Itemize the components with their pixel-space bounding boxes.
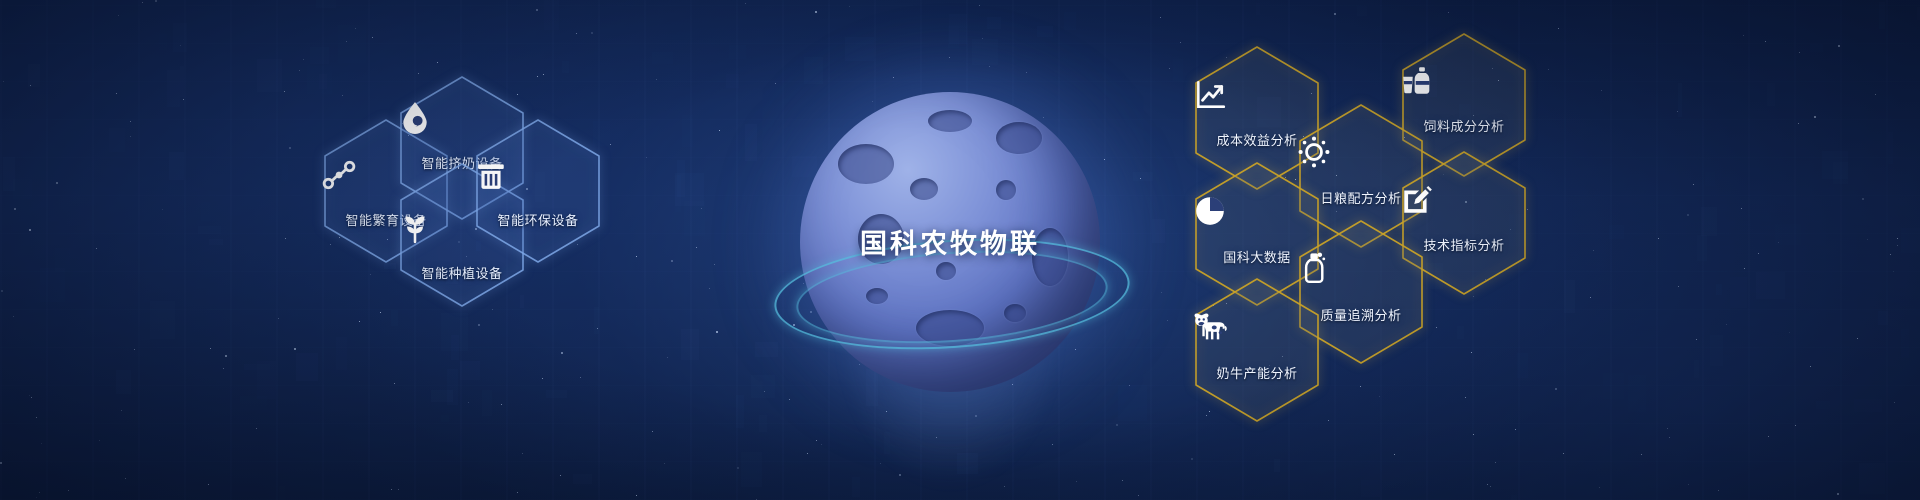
planet-graphic: 国科农牧物联: [780, 92, 1120, 422]
hex-cell-智能环保设备[interactable]: 智能环保设备: [474, 118, 602, 264]
banner-canvas: 智能繁育设备智能挤奶设备智能种植设备智能环保设备 国科农牧物联 成本效益分析饲料…: [0, 0, 1920, 500]
hex-cell-奶牛产能分析[interactable]: 奶牛产能分析: [1193, 277, 1321, 423]
page-title: 国科农牧物联: [780, 222, 1120, 261]
hex-label: 奶牛产能分析: [1167, 363, 1347, 382]
hex-label: 智能环保设备: [448, 210, 628, 229]
hex-label: 智能种植设备: [372, 263, 552, 282]
